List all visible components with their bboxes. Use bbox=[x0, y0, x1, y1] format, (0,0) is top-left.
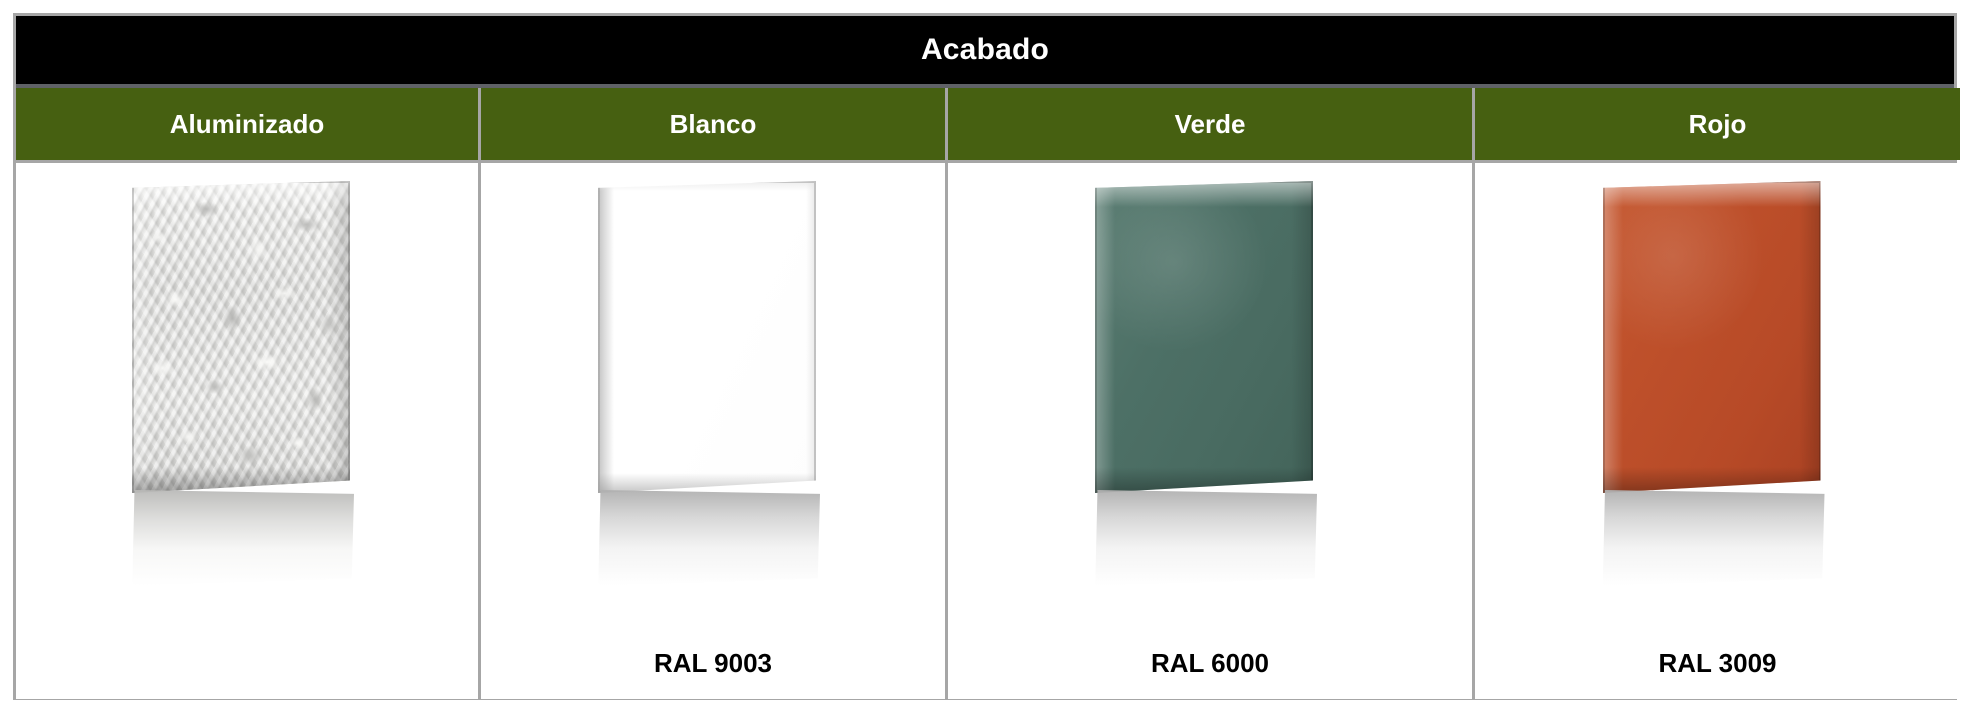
swatch-tile-outline bbox=[132, 181, 350, 493]
swatch-row: RAL 9003 RAL 6000 bbox=[16, 163, 1954, 699]
swatch-reflection bbox=[1601, 490, 1825, 586]
column-header-label: Verde bbox=[1175, 109, 1246, 140]
swatch-reflection bbox=[130, 490, 354, 586]
column-header-label: Blanco bbox=[670, 109, 757, 140]
column-header-rojo[interactable]: Rojo bbox=[1475, 88, 1960, 160]
column-header-verde[interactable]: Verde bbox=[948, 88, 1475, 160]
column-header-aluminizado[interactable]: Aluminizado bbox=[16, 88, 481, 160]
finish-options-table: Acabado Aluminizado Blanco Verde Rojo bbox=[13, 13, 1957, 700]
page-title: Acabado bbox=[921, 35, 1049, 65]
green-panel-swatch bbox=[1085, 176, 1335, 596]
column-header-blanco[interactable]: Blanco bbox=[481, 88, 948, 160]
swatch-tile bbox=[1603, 181, 1821, 493]
swatch-tile-outline bbox=[1095, 181, 1313, 493]
swatch-cell-aluminizado[interactable] bbox=[16, 163, 481, 699]
swatch-tile bbox=[1095, 181, 1313, 493]
swatch-tile-outline bbox=[1603, 181, 1821, 493]
ral-code-label: RAL 3009 bbox=[1475, 648, 1960, 679]
table-title-banner: Acabado bbox=[16, 16, 1954, 88]
swatch-reflection bbox=[596, 490, 820, 586]
column-header-label: Aluminizado bbox=[170, 109, 325, 140]
swatch-cell-rojo[interactable]: RAL 3009 bbox=[1475, 163, 1960, 699]
swatch-cell-verde[interactable]: RAL 6000 bbox=[948, 163, 1475, 699]
column-header-row: Aluminizado Blanco Verde Rojo bbox=[16, 88, 1954, 163]
aluminized-metal-swatch bbox=[122, 176, 372, 596]
swatch-tile bbox=[598, 181, 816, 493]
swatch-cell-blanco[interactable]: RAL 9003 bbox=[481, 163, 948, 699]
column-header-label: Rojo bbox=[1689, 109, 1747, 140]
ral-code-label: RAL 6000 bbox=[948, 648, 1472, 679]
white-panel-swatch bbox=[588, 176, 838, 596]
swatch-tile bbox=[132, 181, 350, 493]
swatch-reflection bbox=[1093, 490, 1317, 586]
red-panel-swatch bbox=[1593, 176, 1843, 596]
ral-code-label: RAL 9003 bbox=[481, 648, 945, 679]
swatch-tile-outline bbox=[598, 181, 816, 493]
